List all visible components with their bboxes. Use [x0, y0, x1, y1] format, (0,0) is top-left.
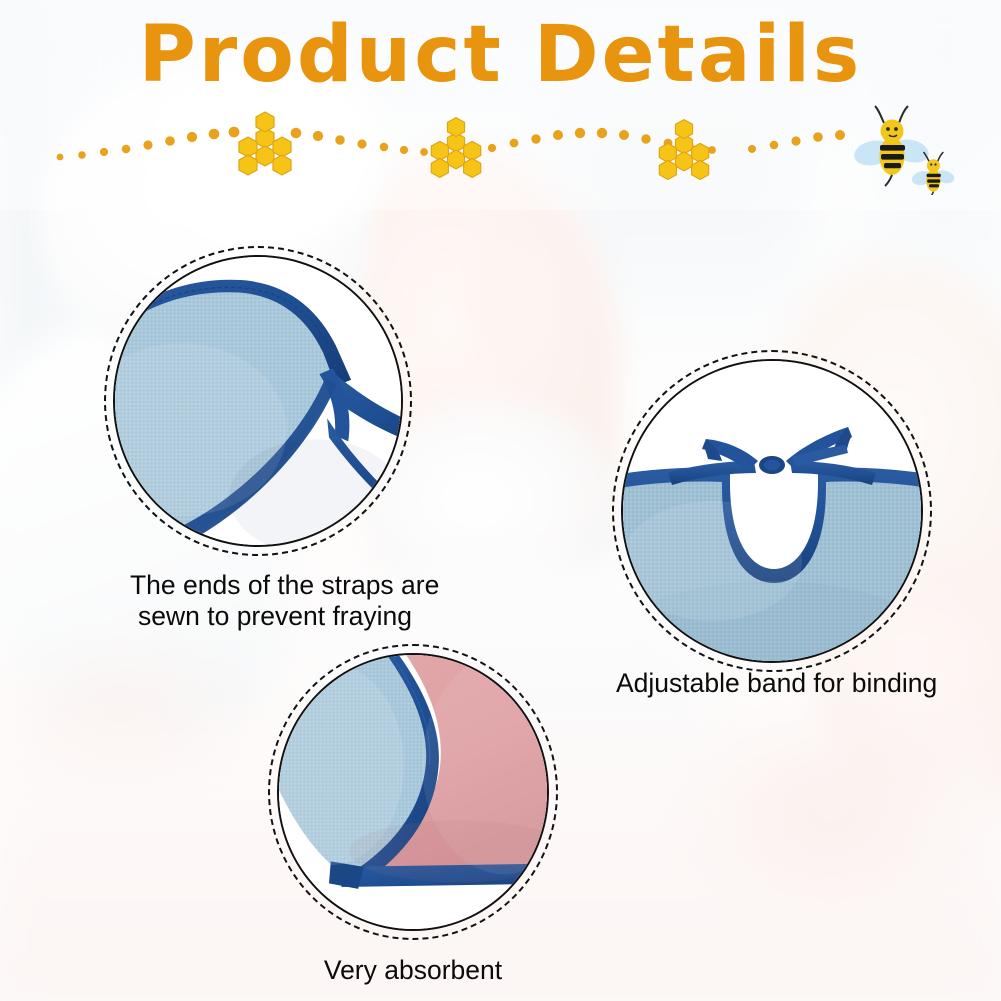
product-details-page: Product Details	[0, 0, 1001, 1001]
caption-straps: The ends of the straps are sewn to preve…	[130, 570, 420, 632]
photo-band	[621, 359, 923, 663]
detail-circle-absorbent	[268, 644, 558, 940]
detail-circle-band	[612, 350, 932, 672]
honeycomb-icon-2	[431, 118, 480, 178]
photo-straps	[113, 255, 403, 547]
detail-circle-straps	[104, 246, 412, 556]
honeycomb-icon-3	[659, 120, 708, 180]
page-title: Product Details	[0, 14, 1001, 96]
honeycomb-icon-1	[239, 112, 291, 175]
caption-absorbent: Very absorbent	[268, 955, 558, 986]
caption-band: Adjustable band for binding	[616, 668, 936, 699]
decorative-divider	[0, 100, 1001, 195]
photo-absorbent	[277, 653, 549, 931]
